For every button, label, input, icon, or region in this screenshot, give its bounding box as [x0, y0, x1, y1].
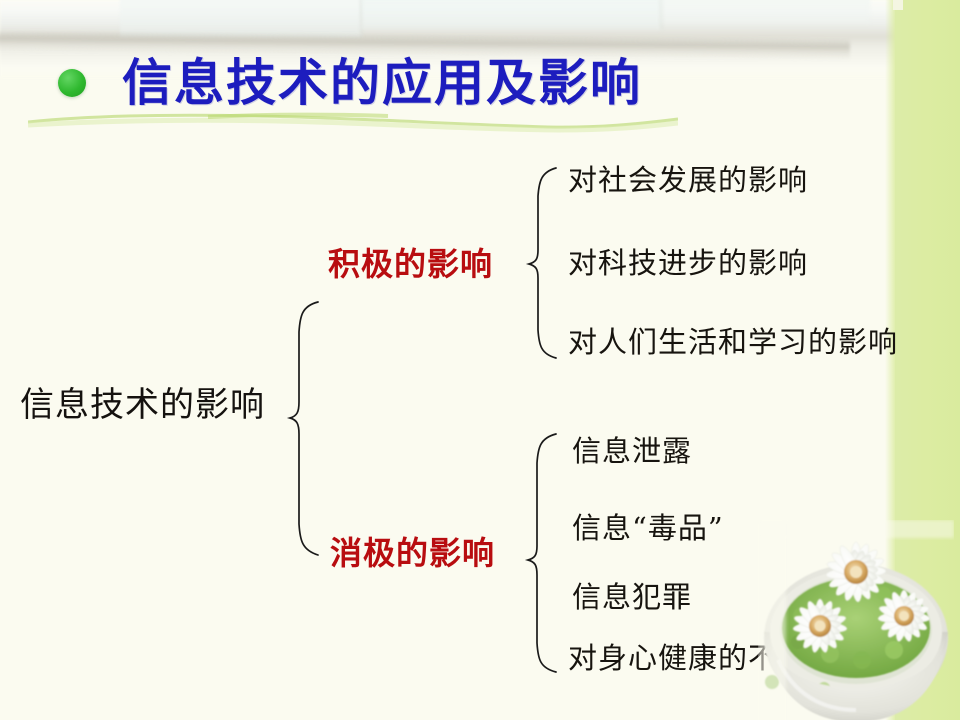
diagram-leaf-negative-1: 信息泄露	[572, 437, 692, 466]
diagram-branch-positive-label: 积极的影响	[328, 248, 493, 280]
diagram-branch-negative-label: 消极的影响	[330, 537, 495, 569]
slide-canvas: 信息技术的应用及影响 信息技术的影响 积极的影响 消极的影响 对社会发展的影响 …	[0, 0, 960, 720]
diagram-leaf-positive-3: 对人们生活和学习的影响	[568, 328, 898, 357]
diagram-leaf-negative-2: 信息“毒品”	[572, 514, 724, 543]
diagram-leaf-positive-1: 对社会发展的影响	[568, 166, 808, 195]
diagram-root-label: 信息技术的影响	[20, 388, 265, 422]
diagram-leaf-negative-4: 对身心健康的不良影响	[568, 644, 868, 673]
diagram-nodes: 信息技术的影响 积极的影响 消极的影响 对社会发展的影响 对科技进步的影响 对人…	[0, 0, 960, 720]
diagram-leaf-positive-2: 对科技进步的影响	[568, 249, 808, 278]
diagram-leaf-negative-3: 信息犯罪	[572, 583, 692, 612]
